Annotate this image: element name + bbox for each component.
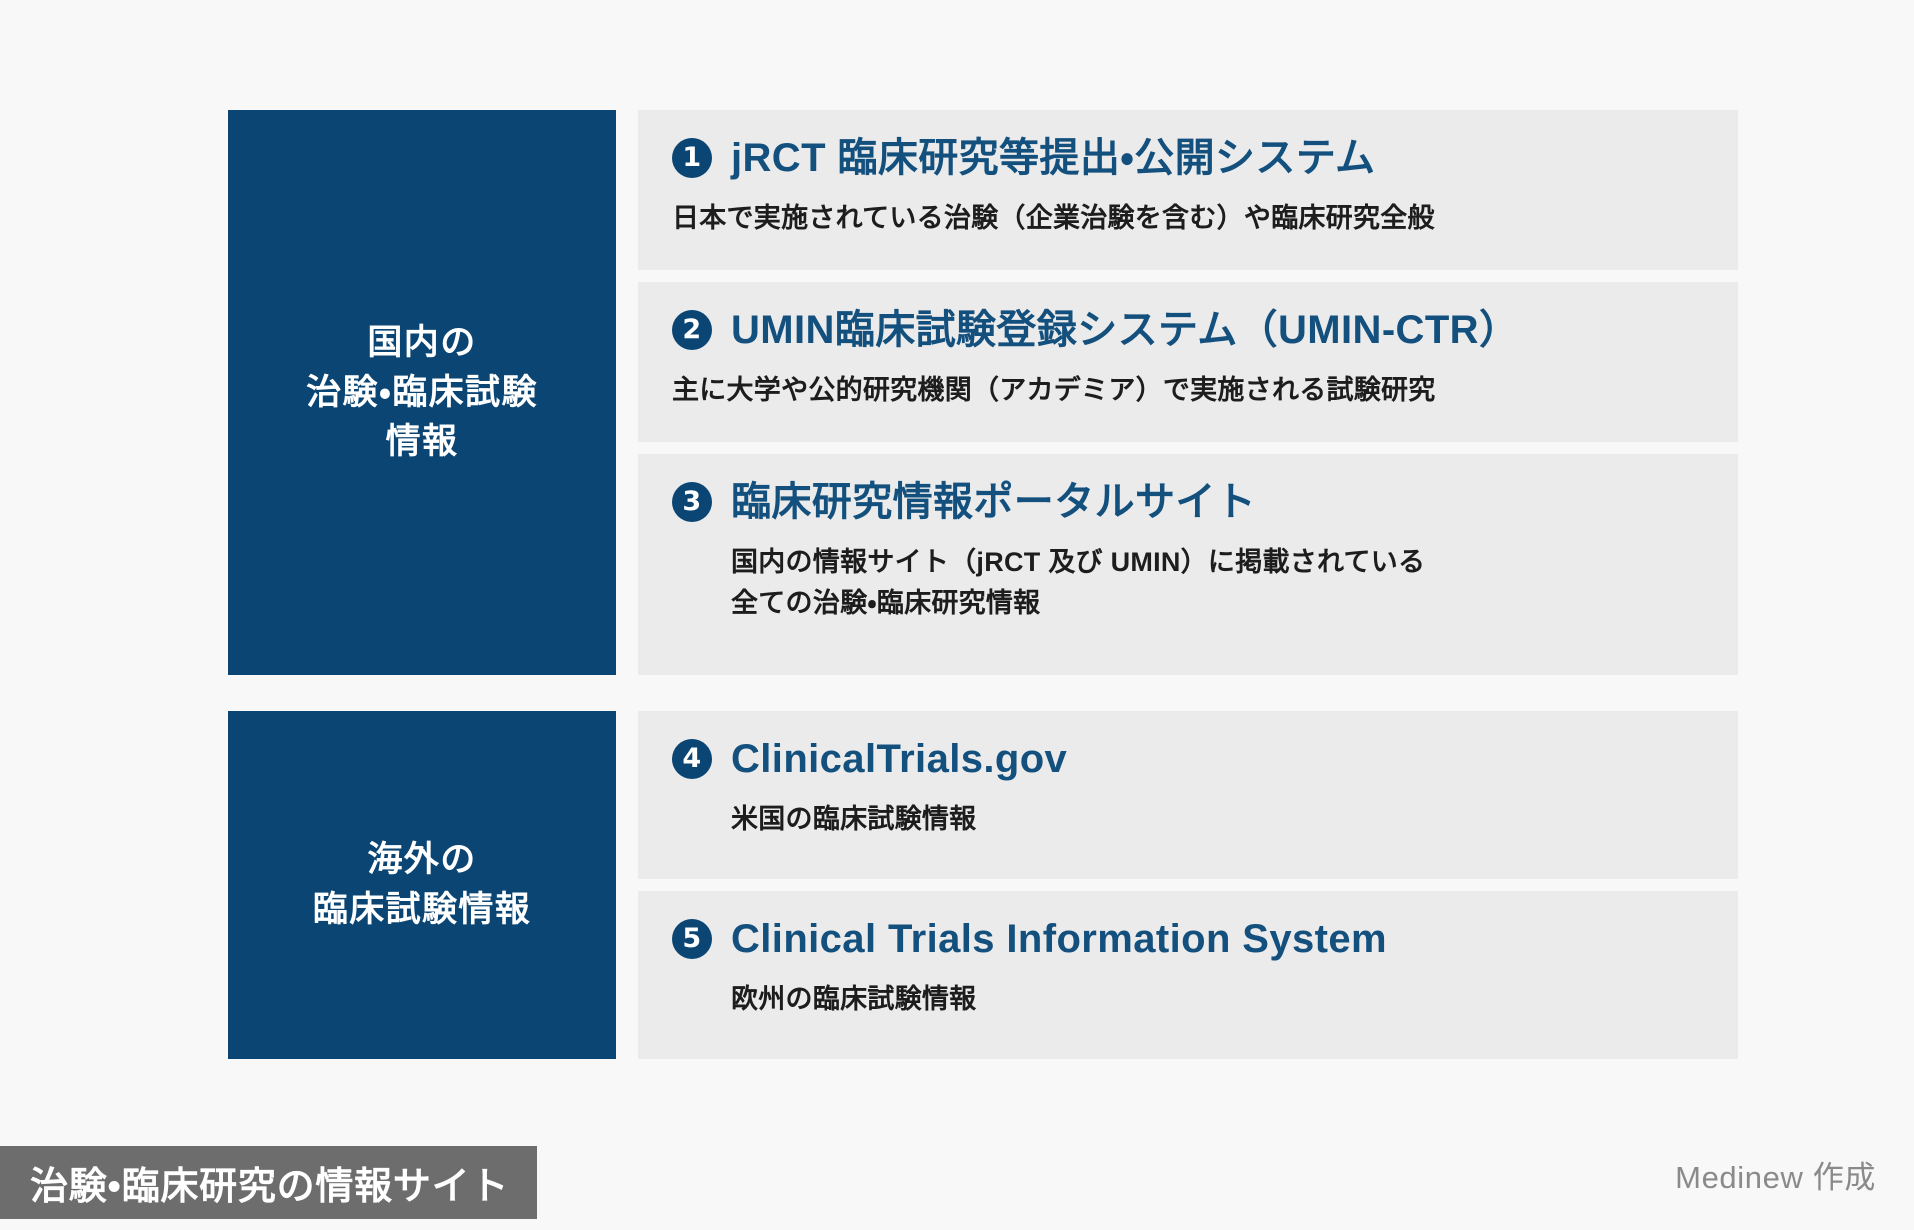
card-ctis[interactable]: 5 Clinical Trials Information System 欧州の… xyxy=(638,891,1738,1059)
group-label-line: 臨床試験情報 xyxy=(313,885,531,935)
card-title-row: 3 臨床研究情報ポータルサイト xyxy=(672,480,1708,524)
card-description: 主に大学や公的研究機関（アカデミア）で実施される試験研究 xyxy=(672,370,1708,411)
card-description: 日本で実施されている治験（企業治験を含む）や臨床研究全般 xyxy=(672,198,1708,239)
card-clinicaltrials-gov[interactable]: 4 ClinicalTrials.gov 米国の臨床試験情報 xyxy=(638,711,1738,879)
card-umin-ctr[interactable]: 2 UMIN臨床試験登録システム（UMIN-CTR） 主に大学や公的研究機関（ア… xyxy=(638,282,1738,442)
number-badge-icon: 5 xyxy=(672,919,712,959)
credit-label: Medinew 作成 xyxy=(1675,1152,1876,1197)
card-title-text: 臨床研究情報ポータルサイト xyxy=(731,480,1256,524)
group-label-overseas: 海外の 臨床試験情報 xyxy=(228,711,616,1059)
group-label-line: 治験・臨床試験 xyxy=(306,368,538,418)
card-clinical-research-portal[interactable]: 3 臨床研究情報ポータルサイト 国内の情報サイト（jRCT 及び UMIN）に掲… xyxy=(638,454,1738,675)
group-list: 国内の 治験・臨床試験 情報 1 jRCT 臨床研究等提出・公開システム 日本で… xyxy=(228,110,1738,1059)
card-title-text: jRCT 臨床研究等提出・公開システム xyxy=(731,136,1375,180)
card-title-row: 2 UMIN臨床試験登録システム（UMIN-CTR） xyxy=(672,308,1708,352)
card-description: 米国の臨床試験情報 xyxy=(731,799,1708,840)
footer-tag-label: 治験•臨床研究の情報サイト xyxy=(30,1155,509,1210)
card-title-row: 5 Clinical Trials Information System xyxy=(672,917,1708,961)
group-cards-overseas: 4 ClinicalTrials.gov 米国の臨床試験情報 5 Clinica… xyxy=(638,711,1738,1059)
group-domestic: 国内の 治験・臨床試験 情報 1 jRCT 臨床研究等提出・公開システム 日本で… xyxy=(228,110,1738,675)
group-cards-domestic: 1 jRCT 臨床研究等提出・公開システム 日本で実施されている治験（企業治験を… xyxy=(638,110,1738,675)
card-title-text: Clinical Trials Information System xyxy=(731,917,1387,961)
footer-tag: 治験•臨床研究の情報サイト xyxy=(0,1146,537,1219)
number-badge-icon: 1 xyxy=(672,138,712,178)
group-label-line: 海外の xyxy=(367,835,476,885)
card-title-row: 1 jRCT 臨床研究等提出・公開システム xyxy=(672,136,1708,180)
card-description: 国内の情報サイト（jRCT 及び UMIN）に掲載されている 全ての治験・臨床研… xyxy=(731,542,1708,623)
group-overseas: 海外の 臨床試験情報 4 ClinicalTrials.gov 米国の臨床試験情… xyxy=(228,711,1738,1059)
group-label-line: 情報 xyxy=(386,417,459,467)
card-jrct[interactable]: 1 jRCT 臨床研究等提出・公開システム 日本で実施されている治験（企業治験を… xyxy=(638,110,1738,270)
card-description: 欧州の臨床試験情報 xyxy=(731,979,1708,1020)
infographic-canvas: 国内の 治験・臨床試験 情報 1 jRCT 臨床研究等提出・公開システム 日本で… xyxy=(0,0,1914,1230)
card-title-text: UMIN臨床試験登録システム（UMIN-CTR） xyxy=(731,308,1519,352)
number-badge-icon: 2 xyxy=(672,310,712,350)
number-badge-icon: 4 xyxy=(672,739,712,779)
card-title-text: ClinicalTrials.gov xyxy=(731,737,1067,781)
card-title-row: 4 ClinicalTrials.gov xyxy=(672,737,1708,781)
group-label-line: 国内の xyxy=(367,318,476,368)
number-badge-icon: 3 xyxy=(672,482,712,522)
group-label-domestic: 国内の 治験・臨床試験 情報 xyxy=(228,110,616,675)
